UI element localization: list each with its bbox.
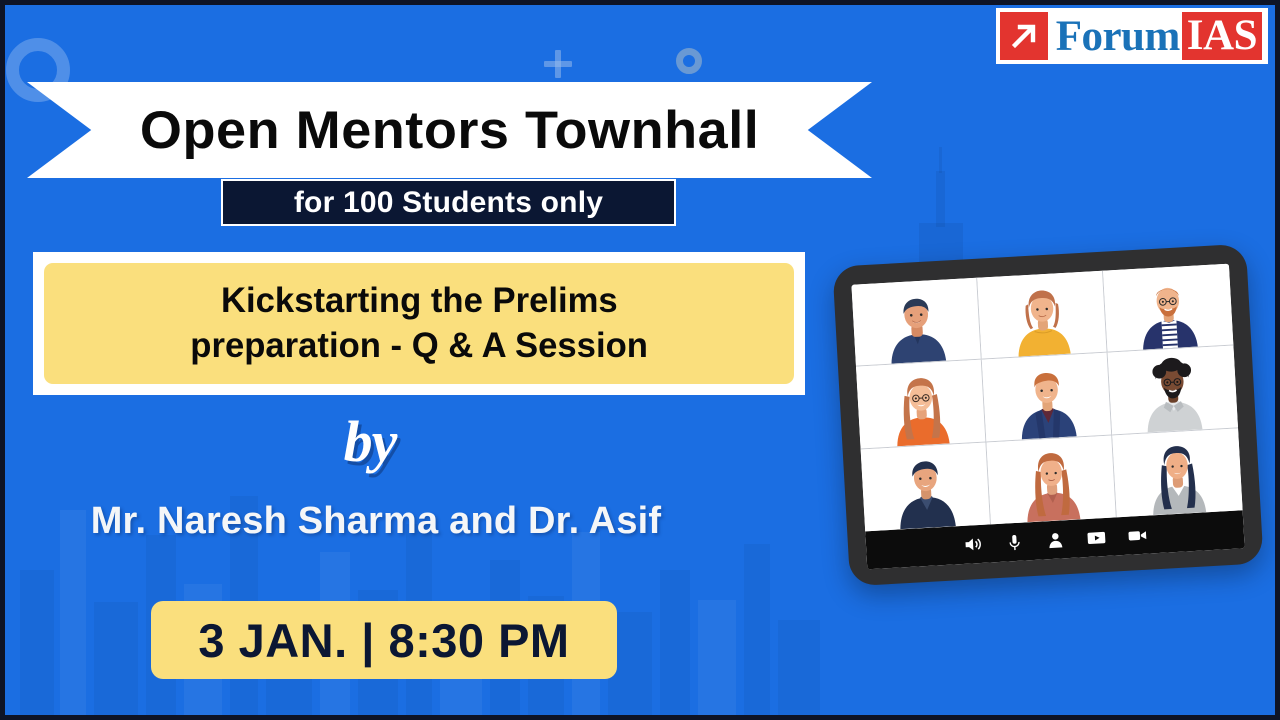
subtitle-badge: for 100 Students only — [221, 179, 676, 226]
participant-tile[interactable] — [1103, 264, 1233, 353]
participant-tile[interactable] — [977, 271, 1107, 360]
person-icon[interactable] — [1043, 528, 1066, 551]
plus-sign-icon — [544, 50, 572, 78]
tablet-frame — [832, 244, 1263, 587]
participant-tile[interactable] — [861, 442, 991, 531]
participant-tile[interactable] — [982, 353, 1112, 442]
camera-icon[interactable] — [1125, 524, 1148, 547]
arrow-up-right-icon — [1000, 12, 1048, 60]
logo-text-ias: IAS — [1182, 12, 1262, 60]
speaker-icon[interactable] — [962, 533, 985, 556]
participant-tile[interactable] — [1108, 346, 1238, 435]
topic-line-1: Kickstarting the Prelims — [221, 280, 618, 323]
microphone-icon[interactable] — [1002, 530, 1025, 553]
participant-tile[interactable] — [986, 435, 1116, 524]
presenter-names: Mr. Naresh Sharma and Dr. Asif — [0, 500, 752, 543]
presentation-icon[interactable] — [1084, 526, 1107, 549]
by-label: by — [0, 408, 740, 475]
tablet-screen — [851, 264, 1244, 570]
title-ribbon: Open Mentors Townhall — [27, 82, 872, 178]
schedule-badge: 3 JAN. | 8:30 PM — [151, 601, 617, 679]
participant-tile[interactable] — [856, 360, 986, 449]
topic-line-2: preparation - Q & A Session — [190, 325, 648, 368]
participant-tile[interactable] — [851, 278, 981, 367]
subtitle-text: for 100 Students only — [294, 186, 603, 220]
topic-card-frame: Kickstarting the Prelims preparation - Q… — [33, 252, 805, 395]
participant-tile[interactable] — [1112, 428, 1242, 517]
forumias-logo[interactable]: Forum IAS — [996, 8, 1268, 64]
video-grid — [851, 264, 1242, 532]
promo-banner: Forum IAS Open Mentors Townhall for 100 … — [0, 0, 1280, 720]
logo-text-forum: Forum — [1048, 15, 1182, 58]
circle-ring-small-icon — [676, 48, 702, 74]
tablet-illustration — [832, 244, 1263, 587]
topic-card: Kickstarting the Prelims preparation - Q… — [44, 263, 794, 384]
schedule-text: 3 JAN. | 8:30 PM — [198, 613, 569, 668]
page-title: Open Mentors Townhall — [140, 100, 759, 161]
